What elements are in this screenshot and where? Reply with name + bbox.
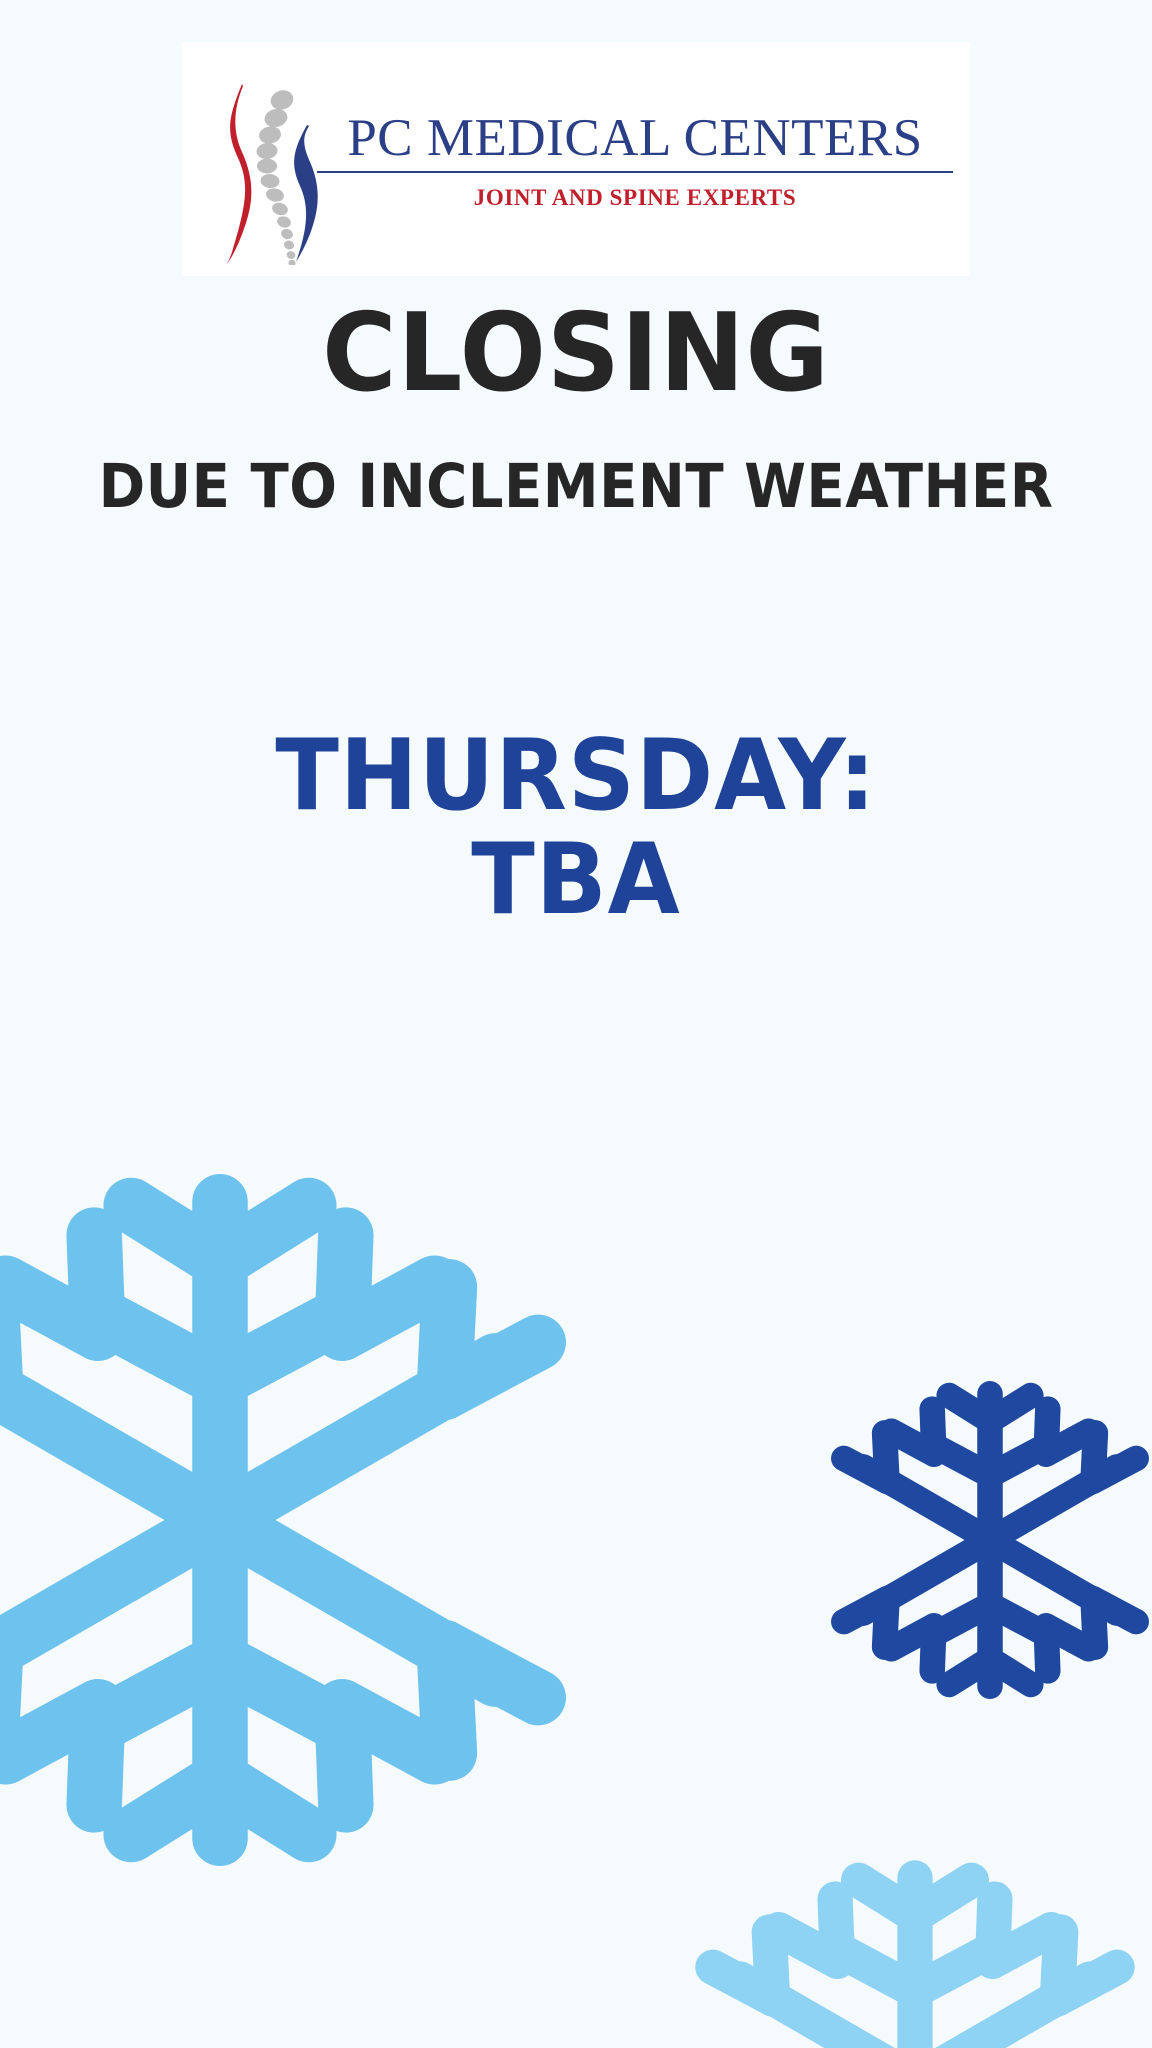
- snowflake-bottom-right-icon: [680, 1845, 1150, 2048]
- logo-inner: PC MEDICAL CENTERS JOINT AND SPINE EXPER…: [182, 42, 970, 276]
- logo-text-block: PC MEDICAL CENTERS JOINT AND SPINE EXPER…: [310, 112, 960, 211]
- closing-notice-poster: PC MEDICAL CENTERS JOINT AND SPINE EXPER…: [0, 0, 1152, 2048]
- logo-divider-rule: [317, 171, 953, 173]
- announcement-subhead: DUE TO INCLEMENT WEATHER: [46, 456, 1106, 517]
- announcement-block: CLOSING DUE TO INCLEMENT WEATHER: [0, 300, 1152, 517]
- schedule-day-value: TBA: [29, 829, 1123, 933]
- logo-tagline: JOINT AND SPINE EXPERTS: [310, 185, 960, 211]
- brand-logo: PC MEDICAL CENTERS JOINT AND SPINE EXPER…: [182, 42, 970, 276]
- announcement-headline: CLOSING: [35, 300, 1118, 408]
- logo-title: PC MEDICAL CENTERS: [310, 112, 960, 165]
- snowflake-small-right-icon: [820, 1370, 1152, 1710]
- snowflake-large-left-icon: [0, 1150, 590, 1890]
- schedule-block: THURSDAY: TBA: [0, 725, 1152, 933]
- schedule-day-label: THURSDAY:: [29, 725, 1123, 829]
